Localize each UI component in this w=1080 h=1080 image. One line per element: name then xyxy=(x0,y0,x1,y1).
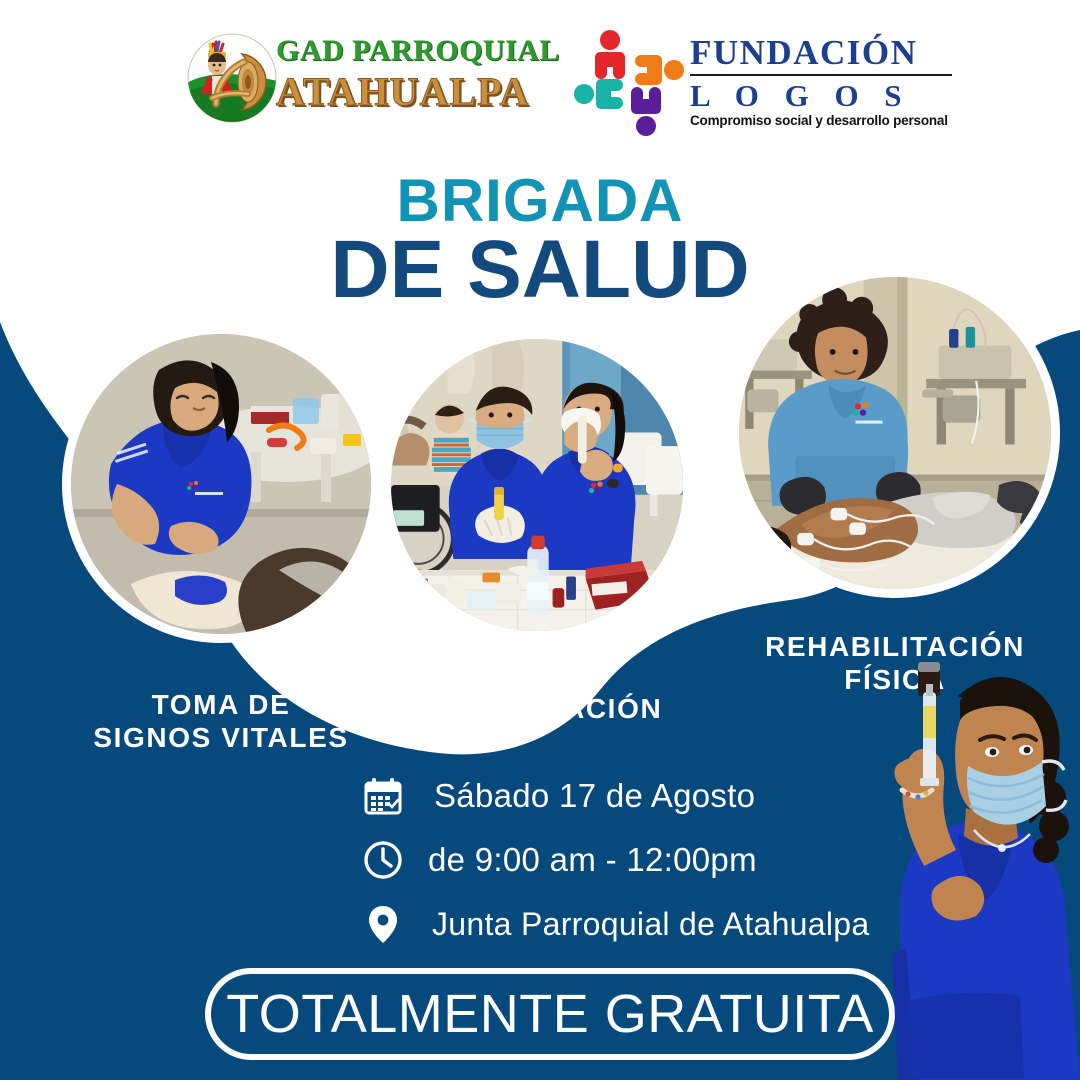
service-caption-1-line1: TOMA DE xyxy=(41,688,401,721)
logo-fundacion-logos: FUNDACIÓN L O G O S Compromiso social y … xyxy=(572,20,952,148)
atahualpa-crest-emblem xyxy=(186,32,278,124)
photo-physical-rehabilitation xyxy=(739,277,1051,589)
logos-title: FUNDACIÓN xyxy=(690,34,952,72)
event-location-text: Junta Parroquial de Atahualpa xyxy=(432,906,869,943)
nurse-with-syringe-cutout xyxy=(862,648,1080,1080)
photo-vital-signs-check xyxy=(71,334,371,634)
logos-divider xyxy=(690,74,952,76)
title-line-brigada: BRIGADA xyxy=(0,170,1080,232)
service-caption-1-line2: SIGNOS VITALES xyxy=(41,721,401,754)
poster-canvas: GAD PARROQUIAL ATAHUALPA xyxy=(0,0,1080,1080)
event-time-text: de 9:00 am - 12:00pm xyxy=(428,841,757,879)
service-photo-3 xyxy=(730,268,1060,598)
gad-logo-line1: GAD PARROQUIAL xyxy=(276,34,508,68)
service-caption-2: VITAMINIZACIÓN xyxy=(382,692,692,725)
service-caption-2-line1: VITAMINIZACIÓN xyxy=(382,692,692,725)
logos-pinwheel-people-mark xyxy=(572,26,688,140)
event-info-date: Sábado 17 de Agosto xyxy=(360,768,920,824)
gad-logo-text: GAD PARROQUIAL ATAHUALPA xyxy=(276,34,508,114)
free-banner: TOTALMENTE GRATUITA xyxy=(205,968,895,1060)
location-pin-icon xyxy=(360,901,406,947)
calendar-icon xyxy=(360,773,406,819)
event-info-location: Junta Parroquial de Atahualpa xyxy=(360,896,920,952)
service-photo-1 xyxy=(62,325,380,643)
event-info-list: Sábado 17 de Agosto de 9:00 am - 12:00pm… xyxy=(360,768,920,960)
gad-logo-line2: ATAHUALPA xyxy=(276,70,508,114)
event-info-time: de 9:00 am - 12:00pm xyxy=(360,832,920,888)
service-caption-1: TOMA DE SIGNOS VITALES xyxy=(41,688,401,754)
event-date-text: Sábado 17 de Agosto xyxy=(434,777,755,815)
service-photo-2 xyxy=(382,330,692,640)
logos-tagline: Compromiso social y desarrollo personal xyxy=(690,113,952,129)
logos-name: L O G O S xyxy=(690,79,952,112)
photo-vitamin-preparation xyxy=(391,339,683,631)
logos-logo-text: FUNDACIÓN L O G O S Compromiso social y … xyxy=(690,34,952,129)
header-logos: GAD PARROQUIAL ATAHUALPA xyxy=(0,18,1080,136)
clock-icon xyxy=(360,837,406,883)
free-banner-label: TOTALMENTE GRATUITA xyxy=(226,983,874,1045)
logo-gad-parroquial-atahualpa: GAD PARROQUIAL ATAHUALPA xyxy=(186,28,506,146)
